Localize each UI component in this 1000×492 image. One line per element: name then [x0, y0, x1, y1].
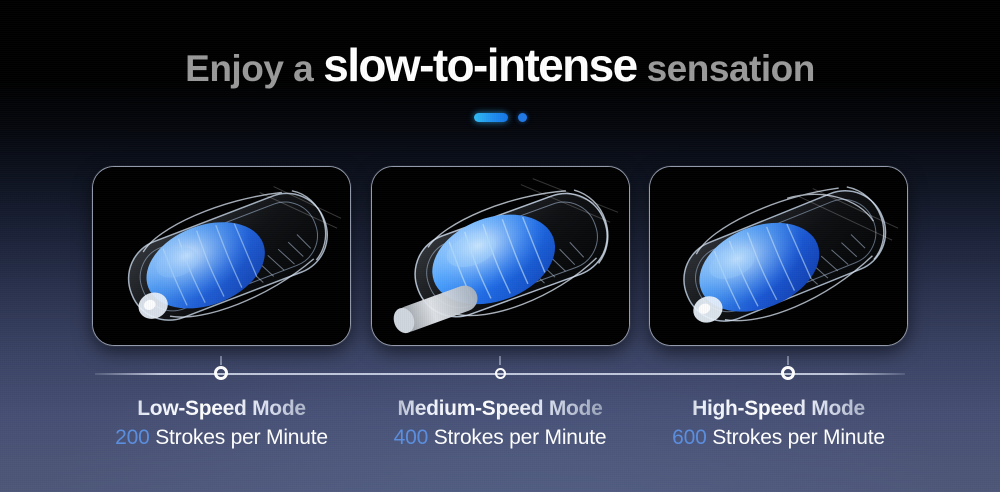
- headline-emphasis: slow-to-intense: [323, 39, 636, 91]
- timeline-node-disc: [205, 357, 237, 389]
- mode-rate-value: 400: [394, 426, 428, 449]
- timeline-node-low-speed[interactable]: [205, 357, 237, 389]
- mode-label: High-Speed Mode: [649, 396, 908, 422]
- headline-lead: Enjoy a: [185, 48, 313, 89]
- mode-rate-suffix: Strokes per Minute: [712, 426, 885, 449]
- mode-rate: 400 Strokes per Minute: [371, 424, 630, 452]
- product-cutaway-illustration-1: [93, 167, 350, 345]
- pagination-dot-2[interactable]: [518, 113, 527, 122]
- mode-caption-low-speed: Low-Speed Mode 200 Strokes per Minute: [92, 396, 351, 466]
- mode-rate-suffix: Strokes per Minute: [155, 426, 328, 449]
- timeline-node-medium-speed[interactable]: [490, 363, 510, 383]
- mode-rate-value: 200: [115, 426, 149, 449]
- mode-card-low-speed[interactable]: [92, 166, 351, 346]
- mode-card-row: [92, 166, 908, 346]
- mode-rate-suffix: Strokes per Minute: [434, 426, 607, 449]
- timeline-node-disc: [772, 357, 804, 389]
- mode-rate-value: 600: [672, 426, 706, 449]
- mode-caption-row: Low-Speed Mode 200 Strokes per Minute Me…: [92, 396, 908, 466]
- mode-caption-medium-speed: Medium-Speed Mode 400 Strokes per Minute: [371, 396, 630, 466]
- mode-card-high-speed-image: [650, 167, 907, 345]
- pagination-dot-active[interactable]: [474, 113, 508, 122]
- timeline-node-ring-icon: [495, 368, 506, 379]
- carousel-pagination[interactable]: [0, 113, 1000, 122]
- timeline-node-high-speed[interactable]: [772, 357, 804, 389]
- promo-banner: Enjoy aslow-to-intensesensation: [0, 0, 1000, 492]
- headline-trail: sensation: [647, 48, 815, 89]
- product-cutaway-illustration-3: [650, 167, 907, 345]
- mode-rate: 200 Strokes per Minute: [92, 424, 351, 452]
- timeline-node-ring-icon: [781, 366, 795, 380]
- product-cutaway-illustration-2: [372, 167, 629, 345]
- page-title: Enjoy aslow-to-intensesensation: [0, 38, 1000, 92]
- mode-card-low-speed-image: [93, 167, 350, 345]
- mode-rate: 600 Strokes per Minute: [649, 424, 908, 452]
- timeline-node-ring-icon: [214, 366, 228, 380]
- mode-caption-high-speed: High-Speed Mode 600 Strokes per Minute: [649, 396, 908, 466]
- timeline-node-disc: [490, 363, 510, 383]
- mode-label: Medium-Speed Mode: [371, 396, 630, 422]
- mode-card-medium-speed[interactable]: [371, 166, 630, 346]
- mode-card-high-speed[interactable]: [649, 166, 908, 346]
- mode-card-medium-speed-image: [372, 167, 629, 345]
- mode-label: Low-Speed Mode: [92, 396, 351, 422]
